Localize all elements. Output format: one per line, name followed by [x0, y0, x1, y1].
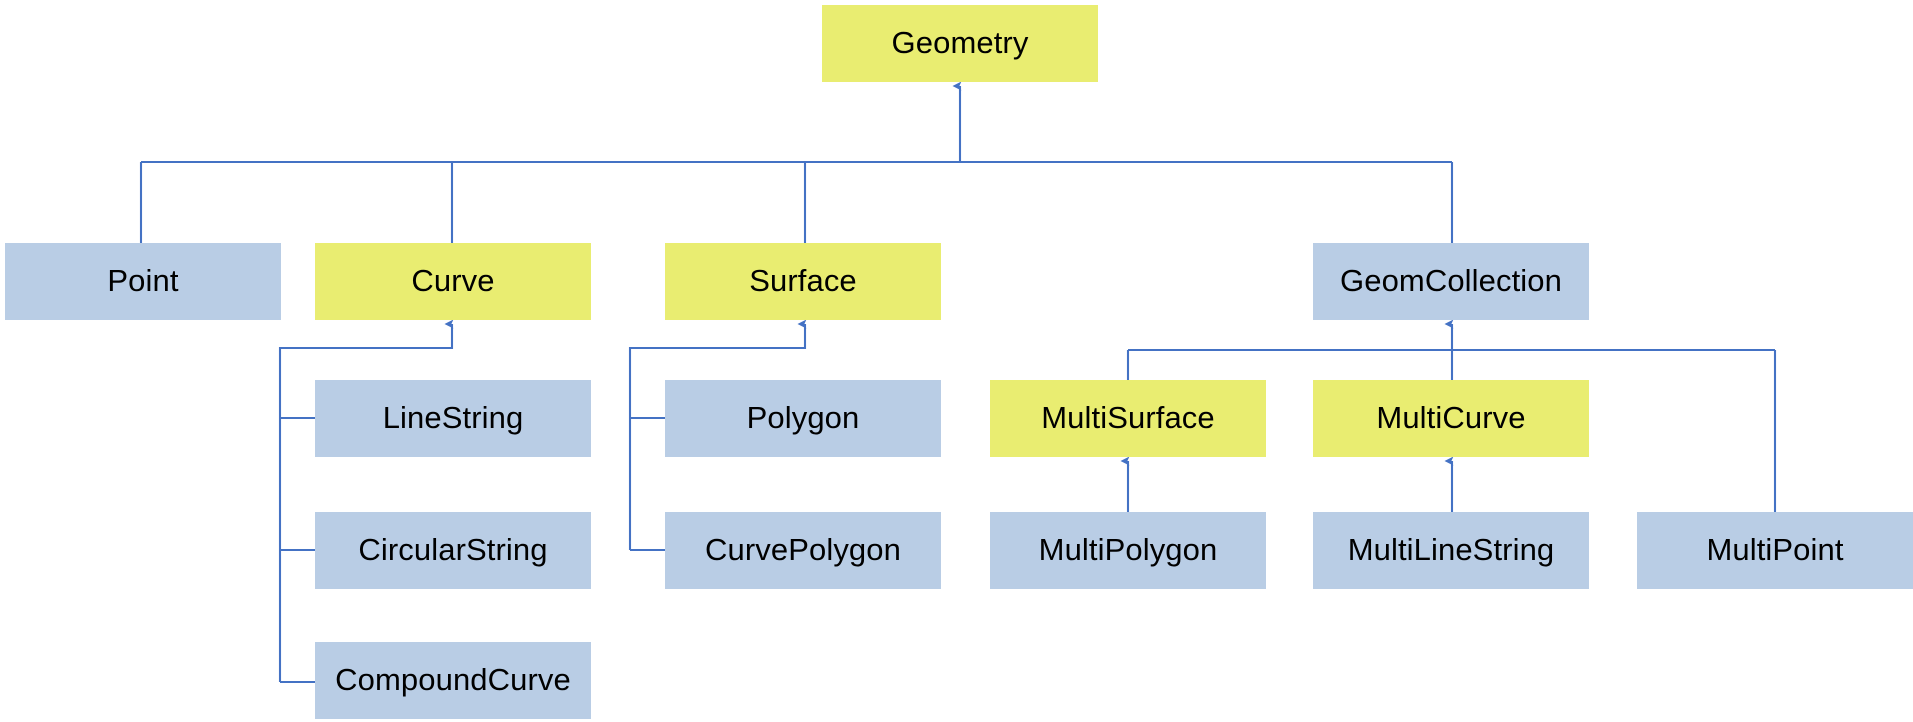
node-multilinestring[interactable]: MultiLineString	[1313, 512, 1589, 589]
node-curve[interactable]: Curve	[315, 243, 591, 320]
node-label-curvepolygon: CurvePolygon	[699, 533, 907, 567]
node-compoundcurve[interactable]: CompoundCurve	[315, 642, 591, 719]
node-label-surface: Surface	[743, 264, 863, 298]
node-multisurface[interactable]: MultiSurface	[990, 380, 1266, 457]
node-label-multipolygon: MultiPolygon	[1033, 533, 1224, 567]
node-label-point: Point	[101, 264, 184, 298]
node-label-geometry: Geometry	[886, 26, 1035, 60]
node-geomcollection[interactable]: GeomCollection	[1313, 243, 1589, 320]
node-point[interactable]: Point	[5, 243, 281, 320]
node-curvepolygon[interactable]: CurvePolygon	[665, 512, 941, 589]
node-surface[interactable]: Surface	[665, 243, 941, 320]
node-polygon[interactable]: Polygon	[665, 380, 941, 457]
node-label-multilinestring: MultiLineString	[1342, 533, 1561, 567]
node-label-polygon: Polygon	[741, 401, 866, 435]
node-multicurve[interactable]: MultiCurve	[1313, 380, 1589, 457]
connector-layer	[0, 0, 1913, 722]
node-label-curve: Curve	[405, 264, 500, 298]
geometry-hierarchy-diagram: Geometry Point Curve Surface GeomCollect…	[0, 0, 1913, 722]
node-circularstring[interactable]: CircularString	[315, 512, 591, 589]
node-label-geomcollection: GeomCollection	[1334, 264, 1568, 298]
node-label-compoundcurve: CompoundCurve	[329, 663, 577, 697]
node-multipoint[interactable]: MultiPoint	[1637, 512, 1913, 589]
node-label-multipoint: MultiPoint	[1700, 533, 1849, 567]
node-label-multisurface: MultiSurface	[1035, 401, 1221, 435]
node-multipolygon[interactable]: MultiPolygon	[990, 512, 1266, 589]
node-linestring[interactable]: LineString	[315, 380, 591, 457]
node-label-linestring: LineString	[377, 401, 530, 435]
node-label-multicurve: MultiCurve	[1370, 401, 1531, 435]
edge-curve-spine	[280, 324, 452, 682]
node-label-circularstring: CircularString	[352, 533, 553, 567]
node-geometry[interactable]: Geometry	[822, 5, 1098, 82]
